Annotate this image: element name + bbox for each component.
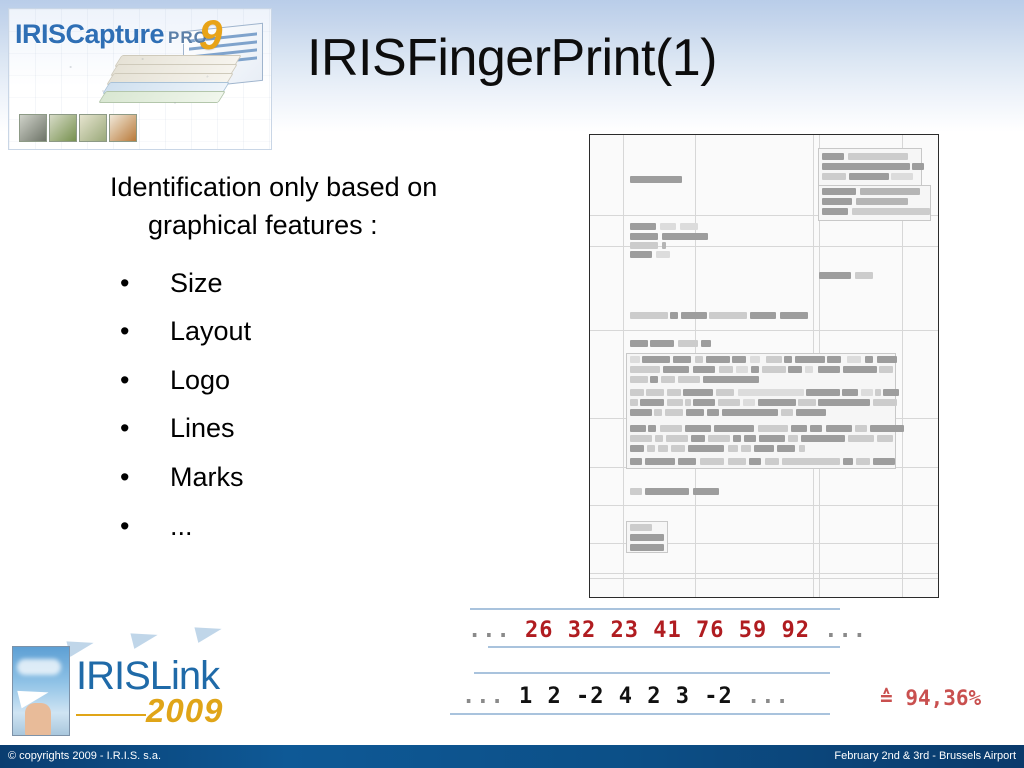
bullet-icon: • bbox=[120, 356, 129, 405]
list-item: • Lines bbox=[110, 404, 540, 453]
value-cell: -2 bbox=[576, 684, 605, 709]
logo-thumbnail-3 bbox=[79, 114, 107, 142]
paper-planes-icon bbox=[68, 624, 264, 658]
lead-line-1: Identification only based on bbox=[110, 172, 437, 202]
lead-paragraph: Identification only based on graphical f… bbox=[110, 168, 540, 245]
value-cell: 3 bbox=[676, 684, 690, 709]
value-cell: 26 bbox=[525, 618, 554, 643]
event-logo-year: 2009 bbox=[146, 692, 223, 730]
bullet-icon: • bbox=[120, 453, 129, 502]
event-logo: IRISLink 2009 bbox=[6, 628, 268, 740]
list-item-label: Marks bbox=[170, 462, 244, 492]
list-item-label: Lines bbox=[170, 413, 235, 443]
trailing-ellipsis: ... bbox=[747, 684, 790, 709]
leading-ellipsis: ... bbox=[468, 618, 511, 643]
list-item-label: Logo bbox=[170, 365, 230, 395]
bullet-icon: • bbox=[120, 307, 129, 356]
value-cell: 4 bbox=[619, 684, 633, 709]
value-cell: 59 bbox=[739, 618, 768, 643]
content-body: Identification only based on graphical f… bbox=[110, 168, 540, 550]
list-item: • Layout bbox=[110, 307, 540, 356]
value-cell: -2 bbox=[704, 684, 733, 709]
feature-list: • Size • Layout • Logo • Lines • Marks •… bbox=[110, 259, 540, 551]
value-cell: 2 bbox=[548, 684, 562, 709]
logo-thumbnail-2 bbox=[49, 114, 77, 142]
footer-event-info: February 2nd & 3rd - Brussels Airport bbox=[834, 750, 1016, 762]
list-item: • ... bbox=[110, 502, 540, 551]
trailing-ellipsis: ... bbox=[824, 618, 867, 643]
match-score: ≙ 94,36% bbox=[880, 686, 981, 710]
lead-line-2: graphical features : bbox=[110, 206, 540, 244]
match-score-value: 94,36% bbox=[905, 686, 981, 710]
logo-thumbnail-4 bbox=[109, 114, 137, 142]
strip-rule-top bbox=[470, 608, 840, 610]
logo-thumbnail-1 bbox=[19, 114, 47, 142]
logo-thumbnail-strip bbox=[19, 114, 137, 142]
list-item: • Marks bbox=[110, 453, 540, 502]
value-cell: 23 bbox=[611, 618, 640, 643]
page-title: IRISFingerPrint(1) bbox=[0, 28, 1024, 88]
value-cell: 92 bbox=[782, 618, 811, 643]
list-item-label: ... bbox=[170, 511, 193, 541]
list-item-label: Size bbox=[170, 268, 223, 298]
approximately-equal-icon: ≙ bbox=[880, 686, 893, 710]
strip-rule-top bbox=[474, 672, 830, 674]
value-cell: 1 bbox=[519, 684, 533, 709]
list-item-label: Layout bbox=[170, 316, 251, 346]
document-preview-image bbox=[589, 134, 939, 598]
value-cell: 2 bbox=[647, 684, 661, 709]
fingerprint-row-delta: ... 1 2 -2 4 2 3 -2 ... bbox=[450, 672, 840, 720]
fingerprint-row-original: ... 26 32 23 41 76 59 92 ... bbox=[460, 608, 840, 652]
fingerprint-values-delta: ... 1 2 -2 4 2 3 -2 ... bbox=[462, 684, 790, 709]
footer-copyright: © copyrights 2009 - I.R.I.S. s.a. bbox=[8, 750, 161, 762]
slide-canvas: IRISCapturePRO 9 IRISFingerPrint(1) Iden… bbox=[0, 0, 1024, 768]
bullet-icon: • bbox=[120, 259, 129, 308]
footer-bar: © copyrights 2009 - I.R.I.S. s.a. Februa… bbox=[0, 745, 1024, 768]
value-cell: 41 bbox=[653, 618, 682, 643]
fingerprint-values-original: ... 26 32 23 41 76 59 92 ... bbox=[468, 618, 867, 643]
strip-rule-bottom bbox=[488, 646, 840, 648]
list-item: • Logo bbox=[110, 356, 540, 405]
bullet-icon: • bbox=[120, 502, 129, 551]
value-cell: 32 bbox=[568, 618, 597, 643]
event-logo-underline bbox=[76, 714, 146, 716]
leading-ellipsis: ... bbox=[462, 684, 505, 709]
bullet-icon: • bbox=[120, 404, 129, 453]
value-cell: 76 bbox=[696, 618, 725, 643]
strip-rule-bottom bbox=[450, 713, 830, 715]
list-item: • Size bbox=[110, 259, 540, 308]
sky-photo-thumbnail bbox=[12, 646, 70, 736]
